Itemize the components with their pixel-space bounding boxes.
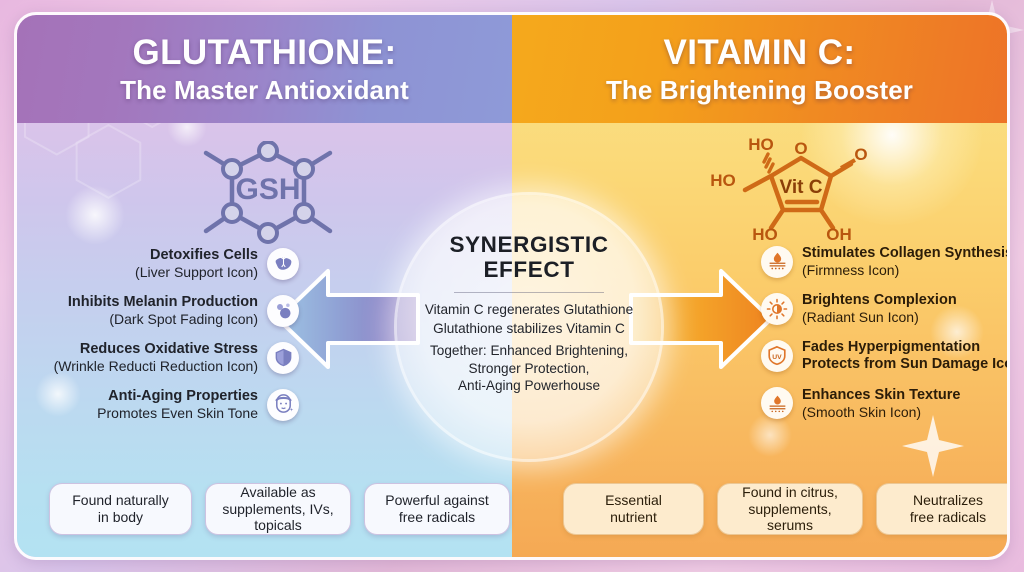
atom-label-ho-bottom: HO bbox=[752, 225, 778, 240]
atom-label-ho-top: HO bbox=[748, 135, 774, 154]
center-divider bbox=[454, 292, 604, 293]
pill-powerful-against[interactable]: Powerful againstfree radicals bbox=[364, 483, 510, 535]
benefit-subtitle: (Radiant Sun Icon) bbox=[802, 309, 957, 325]
atom-label-oh-bottom: OH bbox=[826, 225, 852, 240]
face-icon bbox=[267, 389, 299, 421]
center-line-2: Glutathione stabilizes Vitamin C bbox=[433, 319, 625, 338]
center-line-1: Vitamin C regenerates Glutathione bbox=[425, 300, 633, 319]
pill-found-naturally[interactable]: Found naturallyin body bbox=[49, 483, 192, 535]
uv-shield-icon: UV bbox=[761, 340, 793, 372]
firmness-skin-layers-icon bbox=[761, 246, 793, 278]
benefit-subtitle: Protects from Sun Damage Icon) bbox=[802, 356, 1010, 373]
left-header: GLUTATHIONE: The Master Antioxidant bbox=[17, 15, 512, 123]
benefit-subtitle: (Wrinkle Reducti Reduction Icon) bbox=[54, 358, 258, 374]
pill-neutralizes-free-radicals[interactable]: Neutralizesfree radicals bbox=[876, 483, 1010, 535]
center-block-line2: Stronger Protection, bbox=[430, 360, 628, 378]
benefit-enhances-skin-texture: Enhances Skin Texture (Smooth Skin Icon) bbox=[761, 387, 1007, 420]
pill-essential-nutrient[interactable]: Essentialnutrient bbox=[563, 483, 704, 535]
benefit-subtitle: (Firmness Icon) bbox=[802, 262, 1010, 278]
benefit-inhibits-melanin: Inhibits Melanin Production (Dark Spot F… bbox=[47, 294, 299, 327]
vitc-label: Vit C bbox=[780, 177, 823, 198]
benefit-title: Stimulates Collagen Synthesis bbox=[802, 245, 1010, 262]
benefit-subtitle: (Liver Support Icon) bbox=[135, 264, 258, 280]
center-title-line2: EFFECT bbox=[449, 258, 608, 283]
liver-icon bbox=[267, 248, 299, 280]
atom-label-o-carbonyl: O bbox=[854, 145, 867, 164]
pill-available-as[interactable]: Available assupplements, IVs,topicals bbox=[205, 483, 351, 535]
left-pill-row: Found naturallyin body Available assuppl… bbox=[49, 483, 510, 535]
left-header-subtitle: The Master Antioxidant bbox=[120, 76, 409, 104]
ascorbic-acid-icon: HO HO O O HO OH Vit C bbox=[709, 128, 869, 240]
right-header-subtitle: The Brightening Booster bbox=[606, 76, 913, 104]
benefit-brightens-complexion: Brightens Complexion (Radiant Sun Icon) bbox=[761, 292, 1007, 325]
shield-icon bbox=[267, 342, 299, 374]
gsh-label: GSH bbox=[235, 173, 300, 206]
benefit-title: Fades Hyperpigmentation bbox=[802, 339, 1010, 356]
benefit-title: Detoxifies Cells bbox=[135, 247, 258, 264]
benefit-title: Reduces Oxidative Stress bbox=[54, 341, 258, 358]
infographic-card: GLUTATHIONE: The Master Antioxidant VITA… bbox=[14, 12, 1010, 560]
center-block-line1: Together: Enhanced Brightening, bbox=[430, 342, 628, 360]
benefit-subtitle: (Dark Spot Fading Icon) bbox=[68, 311, 258, 327]
right-header-title: VITAMIN C: bbox=[664, 34, 856, 72]
right-benefits-list: Stimulates Collagen Synthesis (Firmness … bbox=[761, 245, 1007, 434]
center-block-line3: Anti-Aging Powerhouse bbox=[430, 377, 628, 395]
atom-label-ho-left: HO bbox=[710, 171, 736, 190]
center-title-line1: SYNERGISTIC bbox=[449, 233, 608, 258]
svg-text:UV: UV bbox=[772, 354, 782, 361]
benefit-fades-hyperpigmentation: UV Fades Hyperpigmentation Protects from… bbox=[761, 339, 1007, 373]
left-benefits-list: Detoxifies Cells (Liver Support Icon) In… bbox=[47, 247, 299, 435]
benefit-title: Enhances Skin Texture bbox=[802, 387, 960, 404]
pill-found-in-citrus[interactable]: Found in citrus,supplements, serums bbox=[717, 483, 863, 535]
benefit-reduces-oxidative-stress: Reduces Oxidative Stress (Wrinkle Reduct… bbox=[47, 341, 299, 374]
hexagon-molecule-icon: GSH bbox=[192, 141, 344, 245]
synergistic-effect-circle: SYNERGISTIC EFFECT Vitamin C regenerates… bbox=[397, 195, 661, 459]
benefit-title: Anti-Aging Properties bbox=[97, 388, 258, 405]
benefit-stimulates-collagen: Stimulates Collagen Synthesis (Firmness … bbox=[761, 245, 1007, 278]
sun-icon bbox=[761, 293, 793, 325]
benefit-subtitle: Promotes Even Skin Tone bbox=[97, 405, 258, 421]
smooth-skin-icon bbox=[761, 387, 793, 419]
dark-spot-icon bbox=[267, 295, 299, 327]
right-header: VITAMIN C: The Brightening Booster bbox=[512, 15, 1007, 123]
atom-label-o-ring: O bbox=[794, 139, 807, 158]
benefit-subtitle: (Smooth Skin Icon) bbox=[802, 404, 960, 420]
left-header-title: GLUTATHIONE: bbox=[132, 34, 396, 72]
benefit-title: Inhibits Melanin Production bbox=[68, 294, 258, 311]
benefit-anti-aging-properties: Anti-Aging Properties Promotes Even Skin… bbox=[47, 388, 299, 421]
benefit-title: Brightens Complexion bbox=[802, 292, 957, 309]
right-pill-row: Essentialnutrient Found in citrus,supple… bbox=[563, 483, 1010, 535]
benefit-detoxifies-cells: Detoxifies Cells (Liver Support Icon) bbox=[47, 247, 299, 280]
